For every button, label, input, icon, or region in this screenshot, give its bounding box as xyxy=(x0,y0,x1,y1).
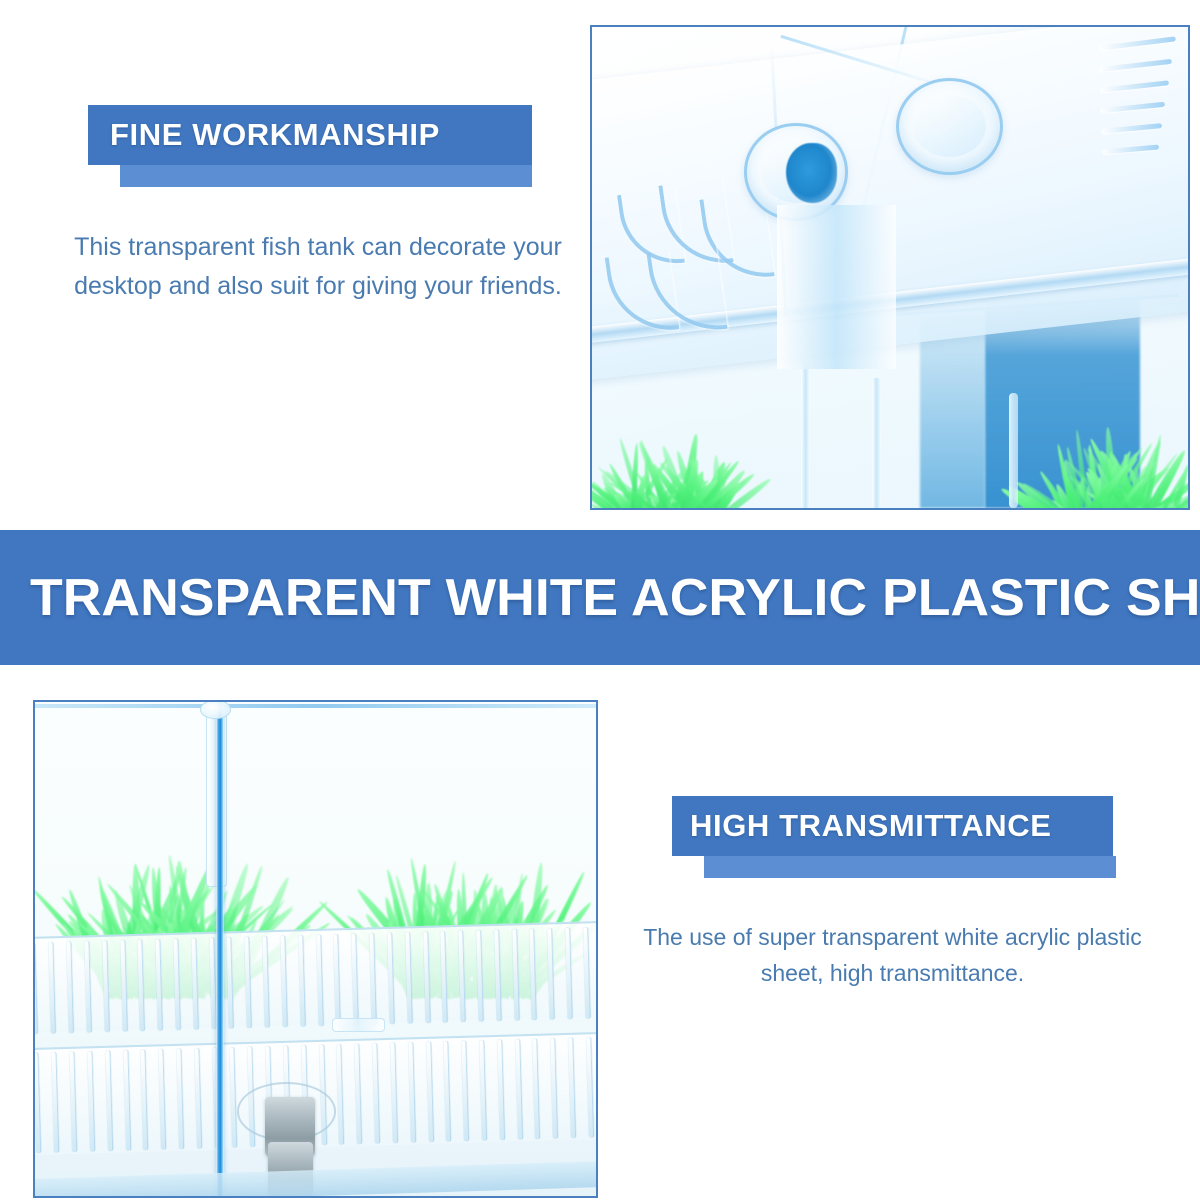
heading-high-transmittance: HIGH TRANSMITTANCE xyxy=(690,808,1052,844)
blue-water-column-secondary xyxy=(920,316,986,508)
aquatic-plant-right xyxy=(1045,344,1188,508)
divider-grill xyxy=(35,921,596,1196)
heading-banner-shadow xyxy=(704,856,1116,878)
heading-banner-shadow xyxy=(120,165,532,187)
product-photo-lid xyxy=(590,25,1190,510)
heading-banner-high-transmittance: HIGH TRANSMITTANCE xyxy=(672,796,1132,888)
body-text-fine-workmanship: This transparent fish tank can decorate … xyxy=(48,228,588,306)
heading-transparent-white-acrylic-plastic-sheet: TRANSPARENT WHITE ACRYLIC PLASTIC SHEET xyxy=(30,568,1200,628)
heading-fine-workmanship: FINE WORKMANSHIP xyxy=(110,117,440,153)
riser-tube-right xyxy=(1009,393,1018,508)
tank-divider-scene xyxy=(35,702,596,1196)
infographic-page: FINE WORKMANSHIP This transparent fish t… xyxy=(0,0,1200,1200)
product-photo-divider xyxy=(33,700,598,1198)
riser-tube-mid xyxy=(872,378,881,508)
feeder-cup-inner xyxy=(913,95,986,157)
tube-bracket xyxy=(332,1018,384,1032)
heading-banner-main: FINE WORKMANSHIP xyxy=(88,105,532,165)
blue-reflection-blob xyxy=(786,143,837,203)
heading-banner-main: HIGH TRANSMITTANCE xyxy=(672,796,1113,856)
feeder-cup-rear xyxy=(896,78,1003,175)
heading-banner-fine-workmanship: FINE WORKMANSHIP xyxy=(88,105,548,197)
air-tube xyxy=(216,702,224,1196)
center-banner: TRANSPARENT WHITE ACRYLIC PLASTIC SHEET xyxy=(0,530,1200,665)
riser-tube-left xyxy=(801,364,810,508)
tank-lid-scene xyxy=(592,27,1188,508)
body-text-high-transmittance: The use of super transparent white acryl… xyxy=(620,920,1165,991)
aquatic-plant-left xyxy=(604,364,735,508)
feeder-cup-stem xyxy=(777,205,896,369)
